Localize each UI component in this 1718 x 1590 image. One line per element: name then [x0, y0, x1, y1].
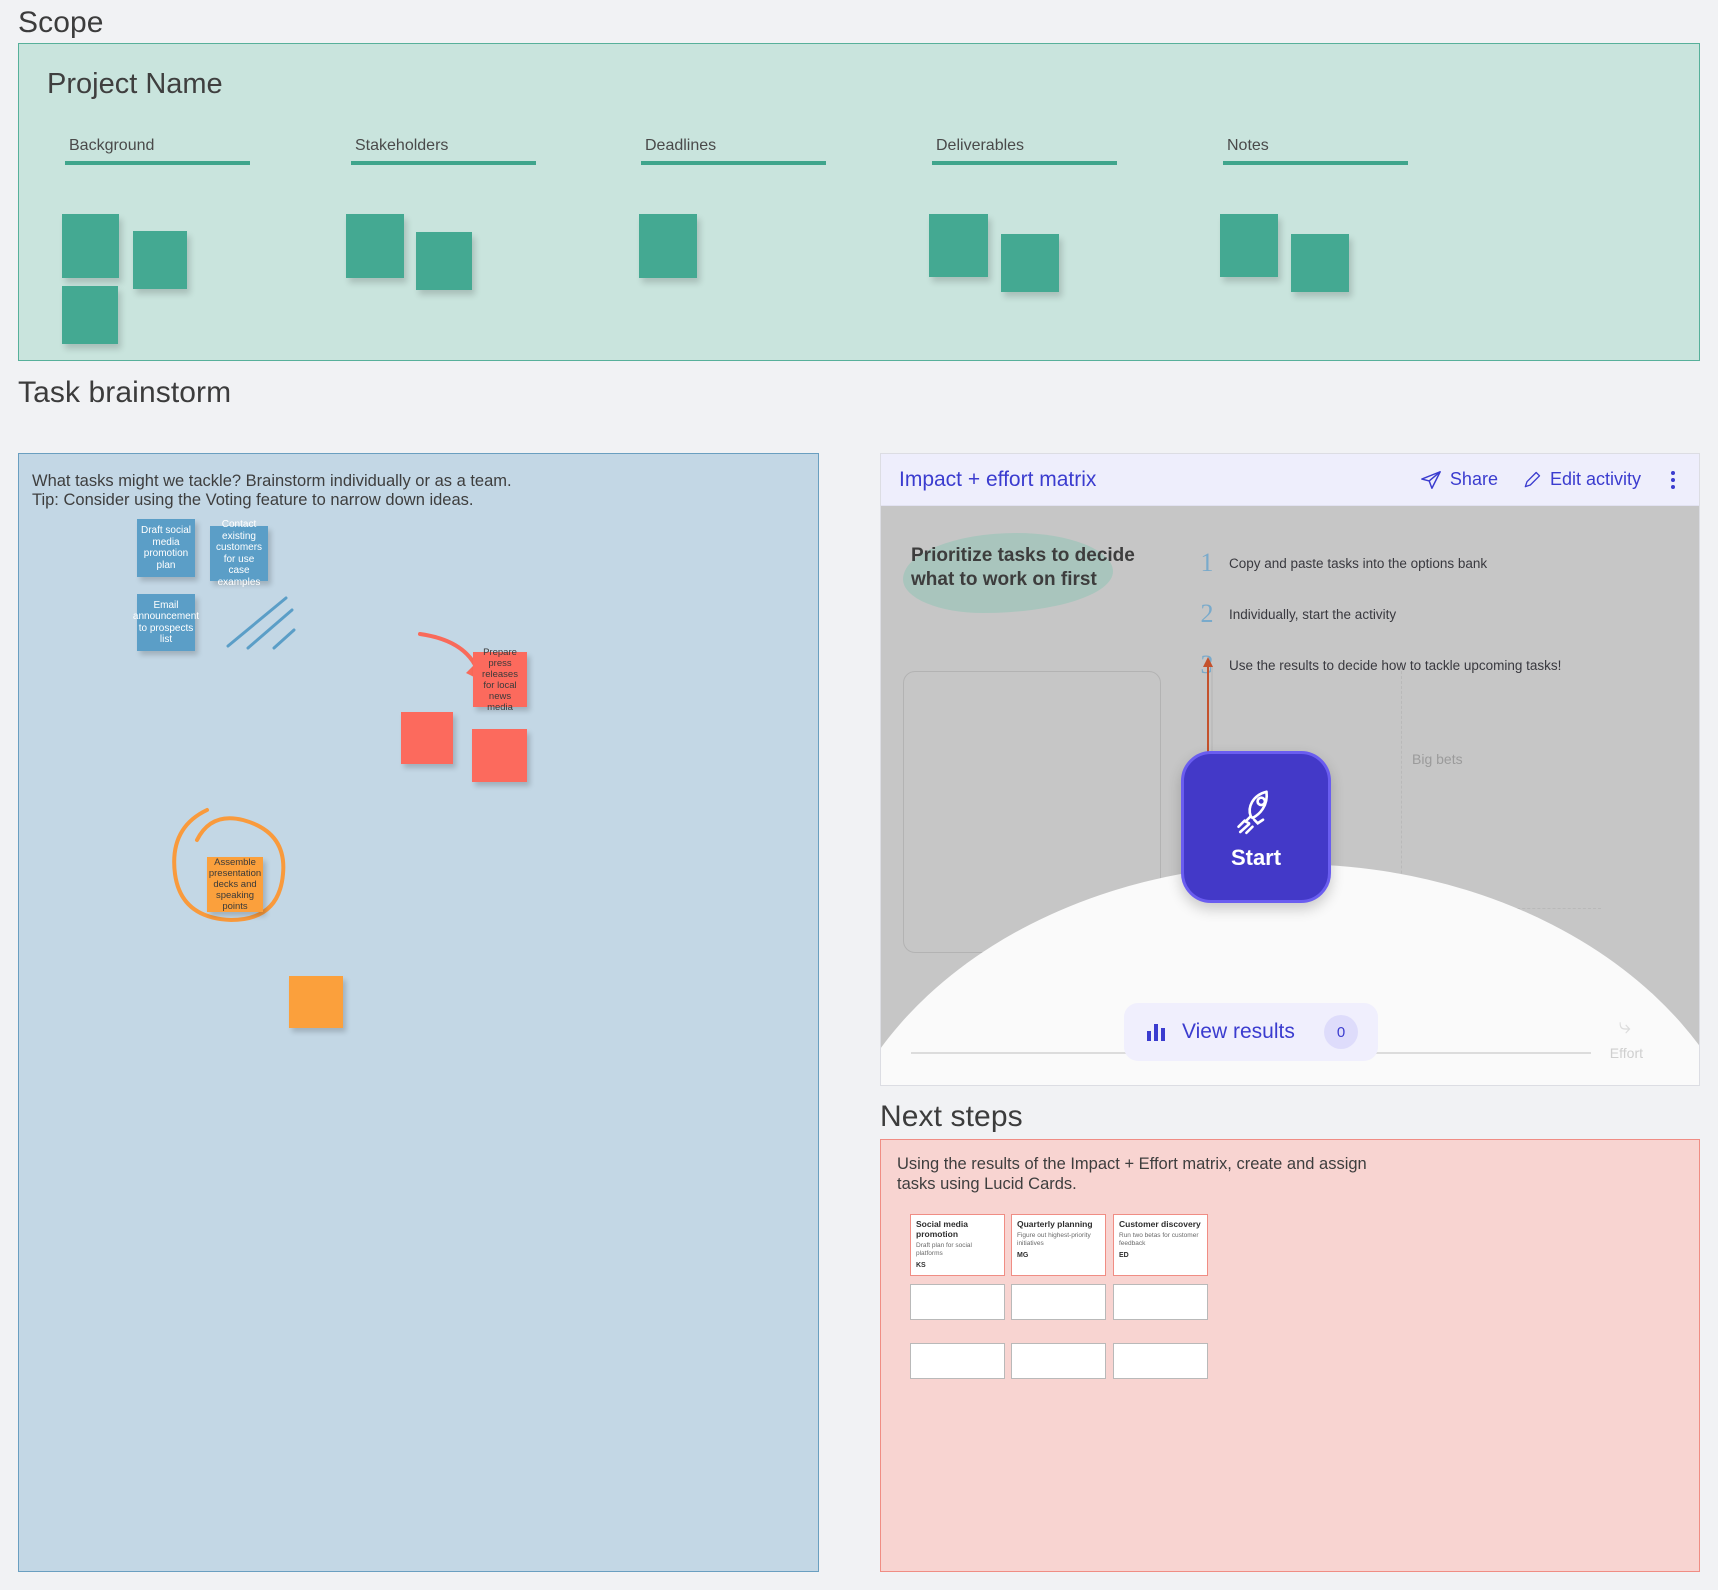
lucid-card-placeholder[interactable] [1113, 1343, 1208, 1379]
lucid-card-description: Run two betas for customer feedback [1119, 1232, 1202, 1248]
brainstorm-note-blue[interactable]: Email announcement to prospects list [137, 594, 195, 651]
scope-column-rule [351, 161, 536, 165]
lucid-card-description: Figure out highest-priority initiatives [1017, 1232, 1100, 1248]
next-steps-description: Using the results of the Impact + Effort… [897, 1154, 1367, 1194]
edit-activity-button[interactable]: Edit activity [1522, 469, 1641, 490]
brainstorm-panel: What tasks might we tackle? Brainstorm i… [18, 453, 819, 1572]
brainstorm-prompt-line2: Tip: Consider using the Voting feature t… [32, 491, 512, 510]
scope-column-label: Deadlines [641, 137, 826, 155]
scope-sticky-note[interactable] [133, 231, 187, 289]
blue-pen-scribble [224, 594, 304, 654]
lucid-card-title: Quarterly planning [1017, 1219, 1100, 1229]
matrix-step: 3 Use the results to decide how to tackl… [1197, 650, 1561, 680]
step-label: Use the results to decide how to tackle … [1229, 658, 1561, 673]
pencil-icon [1522, 470, 1542, 490]
scope-section-title: Scope [18, 6, 104, 40]
scope-sticky-note[interactable] [1220, 214, 1278, 277]
scope-column-deadlines: Deadlines [641, 137, 826, 165]
scope-sticky-note[interactable] [346, 214, 404, 278]
share-button[interactable]: Share [1420, 469, 1498, 491]
scope-column-stakeholders: Stakeholders [351, 137, 536, 165]
next-steps-panel: Using the results of the Impact + Effort… [880, 1139, 1700, 1572]
brainstorm-note-blue[interactable]: Draft social media promotion plan [137, 519, 195, 577]
board-canvas: Scope Project Name Background Stakeholde… [0, 0, 1718, 1590]
step-number: 1 [1197, 548, 1217, 578]
rocket-icon [1228, 783, 1284, 839]
lucid-card-description: Draft plan for social platforms [916, 1242, 999, 1258]
matrix-header: Impact + effort matrix Share Edit activi… [881, 454, 1699, 506]
lucid-card[interactable]: Quarterly planning Figure out highest-pr… [1011, 1214, 1106, 1276]
quadrant-label-big-bets: Big bets [1412, 751, 1463, 767]
scope-column-notes: Notes [1223, 137, 1408, 165]
scope-sticky-note[interactable] [416, 232, 472, 290]
view-results-label: View results [1182, 1020, 1295, 1044]
scope-sticky-note[interactable] [929, 214, 988, 277]
matrix-step: 1 Copy and paste tasks into the options … [1197, 548, 1561, 578]
lucid-card-placeholder[interactable] [910, 1343, 1005, 1379]
scope-column-rule [641, 161, 826, 165]
scope-column-background: Background [65, 137, 250, 165]
edit-activity-label: Edit activity [1550, 469, 1641, 490]
matrix-header-actions: Share Edit activity [1420, 469, 1681, 491]
matrix-step: 2 Individually, start the activity [1197, 599, 1561, 629]
view-results-button[interactable]: View results 0 [1124, 1003, 1378, 1061]
scope-sticky-note[interactable] [62, 286, 118, 344]
lucid-card-assignee: ED [1119, 1252, 1202, 1259]
scope-column-rule [1223, 161, 1408, 165]
start-activity-button[interactable]: Start [1181, 751, 1331, 903]
impact-effort-activity-card: Impact + effort matrix Share Edit activi… [880, 453, 1700, 1086]
view-results-count: 0 [1324, 1015, 1358, 1049]
scope-column-label: Stakeholders [351, 137, 536, 155]
brainstorm-section-title: Task brainstorm [18, 376, 231, 410]
share-label: Share [1450, 469, 1498, 490]
matrix-title: Impact + effort matrix [899, 468, 1096, 492]
scope-column-rule [932, 161, 1117, 165]
more-options-icon[interactable] [1665, 469, 1681, 491]
brainstorm-note-orange[interactable] [289, 976, 343, 1028]
scope-sticky-note[interactable] [1001, 234, 1059, 292]
share-icon [1420, 469, 1442, 491]
brainstorm-prompt: What tasks might we tackle? Brainstorm i… [32, 472, 512, 510]
start-button-label: Start [1231, 845, 1281, 871]
lucid-card[interactable]: Customer discovery Run two betas for cus… [1113, 1214, 1208, 1276]
scope-panel: Project Name Background Stakeholders Dea… [18, 43, 1700, 361]
bar-chart-icon [1144, 1020, 1168, 1044]
scope-column-deliverables: Deliverables [932, 137, 1117, 165]
brainstorm-note-blue[interactable]: Contact existing customers for use case … [210, 526, 268, 581]
matrix-steps-list: 1 Copy and paste tasks into the options … [1197, 548, 1561, 701]
scope-sticky-note[interactable] [62, 214, 119, 278]
lucid-card-placeholder[interactable] [910, 1284, 1005, 1320]
scope-sticky-note[interactable] [639, 214, 697, 278]
step-number: 2 [1197, 599, 1217, 629]
scope-column-label: Background [65, 137, 250, 155]
scope-column-label: Deliverables [932, 137, 1117, 155]
matrix-body: Prioritize tasks to decide what to work … [881, 506, 1699, 1086]
step-label: Individually, start the activity [1229, 607, 1396, 622]
brainstorm-note-red[interactable]: Prepare press releases for local news me… [473, 652, 527, 707]
matrix-prompt: Prioritize tasks to decide what to work … [911, 544, 1141, 592]
next-steps-line1: Using the results of the Impact + Effort… [897, 1154, 1367, 1174]
next-steps-section-title: Next steps [880, 1100, 1023, 1134]
brainstorm-prompt-line1: What tasks might we tackle? Brainstorm i… [32, 472, 512, 491]
project-name-text: Project Name [47, 68, 223, 101]
lucid-card-assignee: MG [1017, 1252, 1100, 1259]
effort-axis-label: Effort [1610, 1045, 1643, 1061]
lucid-card[interactable]: Social media promotion Draft plan for so… [910, 1214, 1005, 1276]
scope-column-label: Notes [1223, 137, 1408, 155]
step-label: Copy and paste tasks into the options ba… [1229, 556, 1487, 571]
lucid-card-title: Social media promotion [916, 1219, 999, 1239]
scope-column-rule [65, 161, 250, 165]
lucid-card-title: Customer discovery [1119, 1219, 1202, 1229]
scope-sticky-note[interactable] [1291, 234, 1349, 292]
brainstorm-note-red[interactable] [472, 729, 527, 782]
lucid-card-placeholder[interactable] [1011, 1343, 1106, 1379]
effort-axis-icon: ⤷ [1619, 1013, 1631, 1039]
lucid-card-placeholder[interactable] [1011, 1284, 1106, 1320]
brainstorm-note-red[interactable] [401, 712, 453, 764]
next-steps-line2: tasks using Lucid Cards. [897, 1174, 1367, 1194]
lucid-card-placeholder[interactable] [1113, 1284, 1208, 1320]
lucid-card-assignee: KS [916, 1262, 999, 1269]
brainstorm-note-orange[interactable]: Assemble presentation decks and speaking… [207, 857, 263, 912]
